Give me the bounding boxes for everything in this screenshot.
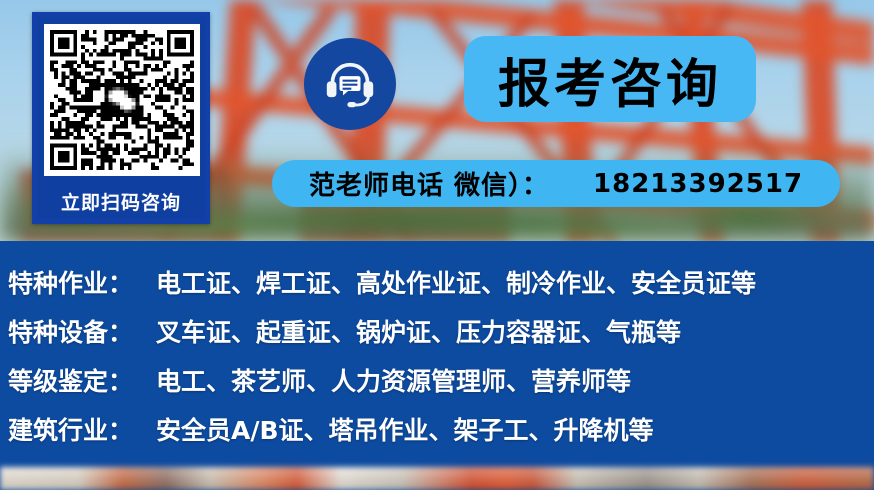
category-items: 安全员A/B证、塔吊作业、架子工、升降机等 xyxy=(156,406,874,455)
category-row: 等级鉴定： 电工、茶艺师、人力资源管理师、营养师等 xyxy=(8,357,874,406)
category-label: 等级鉴定： xyxy=(8,357,156,406)
category-row: 特种作业： 电工证、焊工证、高处作业证、制冷作业、安全员证等 xyxy=(8,259,874,308)
headset-support-icon xyxy=(322,56,378,112)
promo-poster: 立即扫码咨询 报考咨询 范老师电话 微信）： 1821339 xyxy=(0,0,874,490)
headset-support-badge xyxy=(304,38,396,130)
bottom-photo-strip xyxy=(0,467,874,490)
photo-banner: 立即扫码咨询 报考咨询 范老师电话 微信）： 1821339 xyxy=(0,0,874,241)
category-items: 电工证、焊工证、高处作业证、制冷作业、安全员证等 xyxy=(156,259,874,308)
category-row: 特种设备： 叉车证、起重证、锅炉证、压力容器证、气瓶等 xyxy=(8,308,874,357)
category-label: 特种设备： xyxy=(8,308,156,357)
contact-phone-pill[interactable]: 范老师电话 微信）： 18213392517 xyxy=(272,160,840,207)
contact-phone-number[interactable]: 18213392517 xyxy=(593,169,803,199)
qr-code-canvas xyxy=(50,30,194,170)
certificate-categories-panel: 特种作业： 电工证、焊工证、高处作业证、制冷作业、安全员证等 特种设备： 叉车证… xyxy=(0,241,874,467)
qr-code-card[interactable]: 立即扫码咨询 xyxy=(32,12,210,224)
category-items: 叉车证、起重证、锅炉证、压力容器证、气瓶等 xyxy=(156,308,874,357)
consult-title-pill[interactable]: 报考咨询 xyxy=(464,36,756,122)
category-row: 建筑行业： 安全员A/B证、塔吊作业、架子工、升降机等 xyxy=(8,406,874,455)
category-items: 电工、茶艺师、人力资源管理师、营养师等 xyxy=(156,357,874,406)
category-label: 特种作业： xyxy=(8,259,156,308)
consult-title-label: 报考咨询 xyxy=(498,42,722,117)
qr-card-caption: 立即扫码咨询 xyxy=(37,188,205,215)
qr-code-image xyxy=(44,24,200,176)
category-label: 建筑行业： xyxy=(8,406,156,455)
contact-phone-label: 范老师电话 微信）： xyxy=(309,165,549,202)
